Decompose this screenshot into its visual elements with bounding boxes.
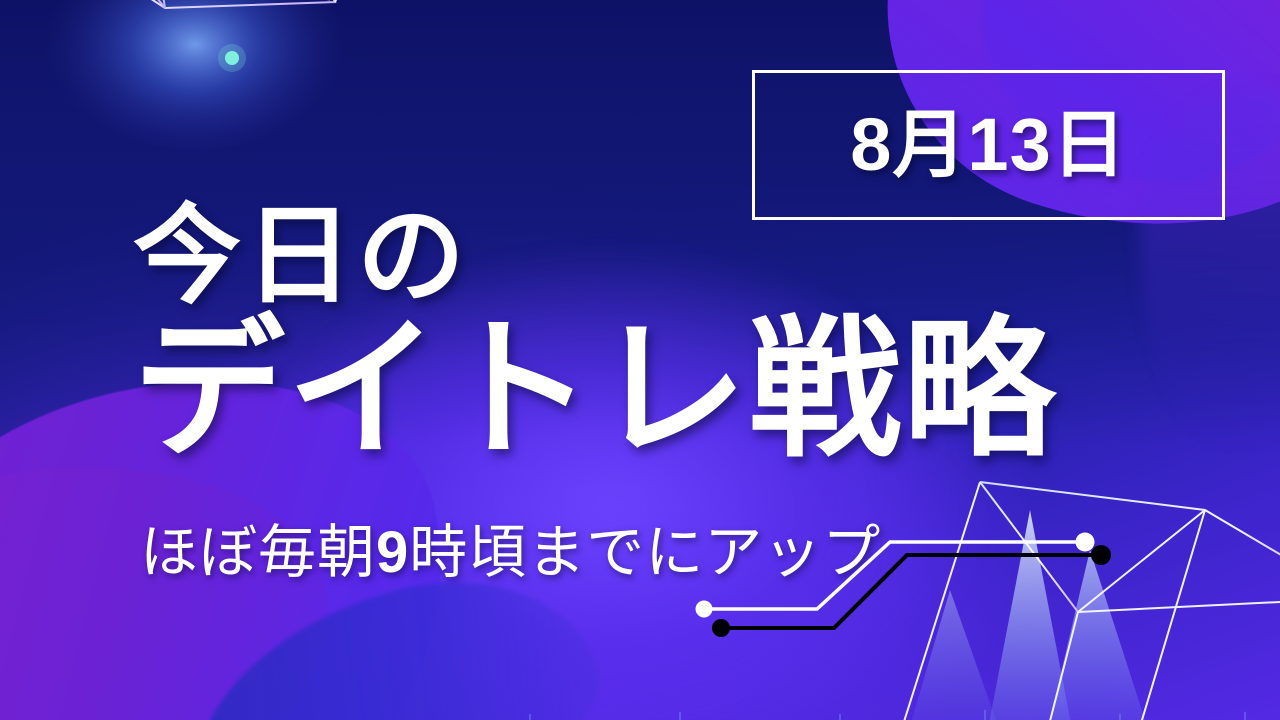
headline-line-2: デイトレ戦略 [133,313,1173,468]
thumbnail-canvas: 8月13日 今日の デイトレ戦略 ほぼ毎朝9時頃までにアップ [0,0,1280,720]
step-line-black-dot-left [712,619,730,637]
headline-line-1: 今日の [133,196,1173,317]
subtitle-prefix: ほぼ毎朝 [140,520,376,585]
date-badge-text: 8月13日 [850,108,1126,182]
wireframe-polygon-top-left [0,0,390,220]
step-line-decoration [690,520,1130,650]
headline-block: 今日の デイトレ戦略 [133,196,1173,468]
step-line-black-dot-right [1091,545,1111,565]
subtitle-emphasis: 9 [376,520,409,585]
step-line-white-dot-left [696,601,713,618]
step-line-black [721,555,1101,628]
step-line-white [704,542,1085,609]
step-line-white-dot-right [1076,533,1095,552]
bottom-tick-marks [0,696,1280,720]
